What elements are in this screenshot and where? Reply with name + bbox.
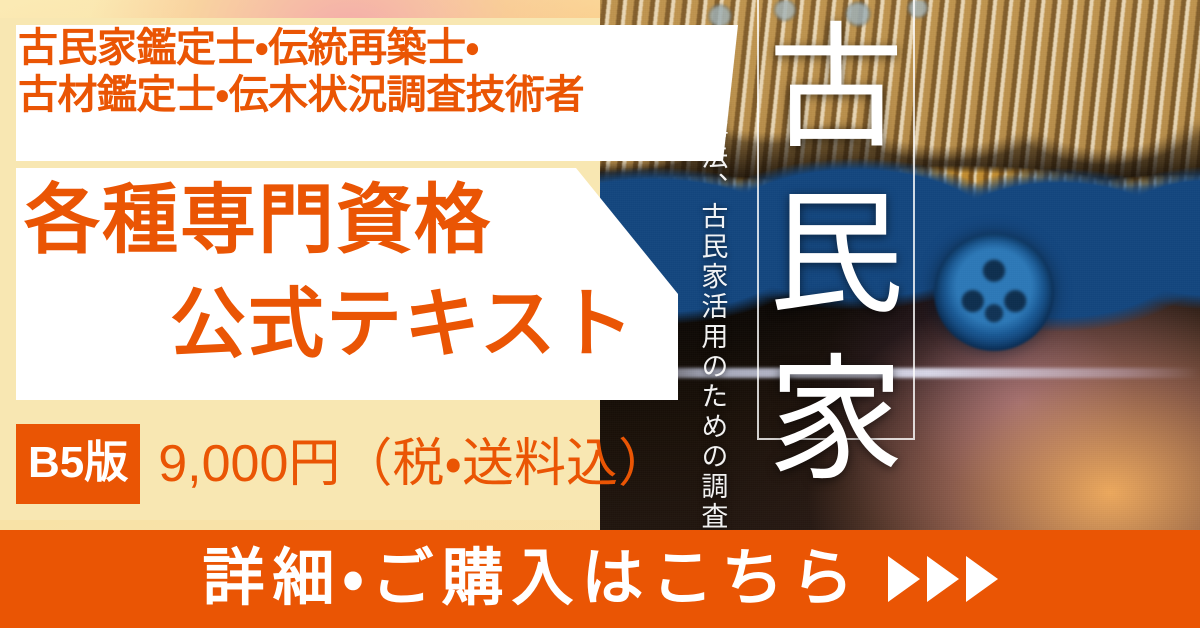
- heading-line-2: 公式テキスト: [170, 287, 636, 363]
- certifications-line-1: 古民家鑑定士・伝統再築士・: [18, 25, 724, 72]
- triangle-right-icon: [927, 556, 959, 602]
- promo-banner: 古 民 家 伝統構法、古民家活用のための調査と再生の 古民家鑑定士・伝統再築士・…: [0, 0, 1200, 628]
- cta-arrows: [888, 556, 998, 602]
- book-title-char-2: 民: [765, 174, 907, 340]
- cta-label: 詳細・ご購入はこちら: [202, 548, 861, 610]
- certifications-line-2: 古材鑑定士・伝木状況調査技術者: [18, 72, 724, 119]
- triangle-right-icon: [966, 556, 998, 602]
- price-row: B5版 9,000円（税・送料込）: [16, 424, 670, 504]
- certifications-text: 古民家鑑定士・伝統再築士・ 古材鑑定士・伝木状況調査技術者: [18, 25, 724, 119]
- price-amount: 9,000円（税・送料込）: [158, 438, 670, 490]
- triangle-right-icon: [888, 556, 920, 602]
- book-title-char-1: 古: [765, 8, 907, 174]
- cta-bar[interactable]: 詳細・ご購入はこちら: [0, 530, 1200, 628]
- book-title-char-3: 家: [765, 340, 907, 506]
- book-title: 古 民 家: [765, 8, 907, 506]
- heading-line-1: 各種専門資格: [24, 183, 492, 259]
- size-badge: B5版: [16, 424, 140, 504]
